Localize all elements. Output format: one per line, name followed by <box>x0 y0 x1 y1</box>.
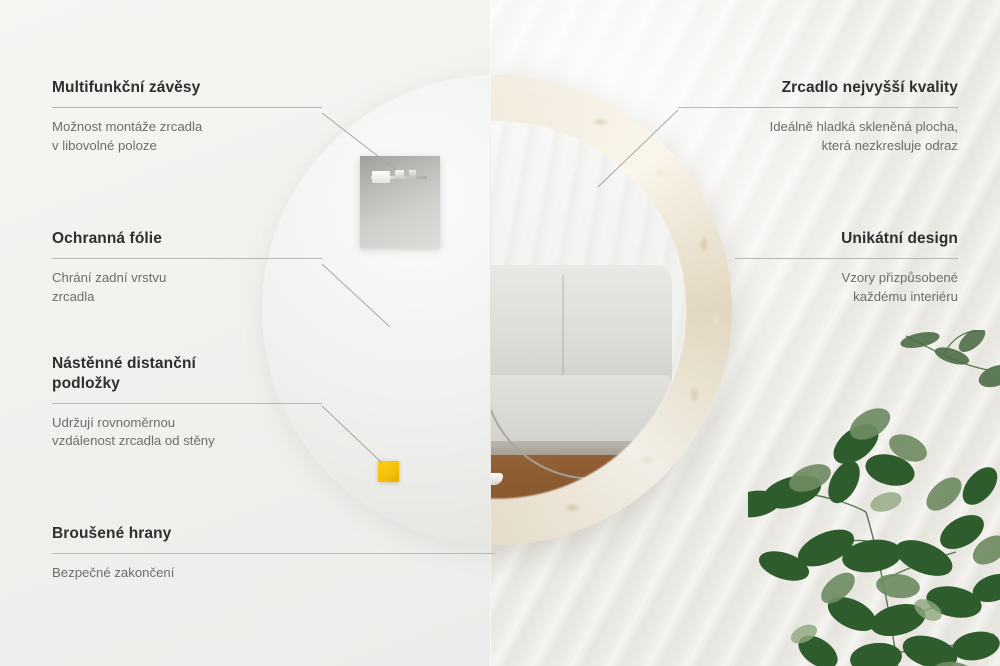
callout-body-line-1: Udržují rovnoměrnou <box>52 414 322 433</box>
callout-title: Broušené hrany <box>52 524 495 544</box>
callout-body-line-1: Bezpečné zakončení <box>52 564 495 583</box>
callout-ochranna-folie[interactable]: Ochranná fólie Chrání zadní vrstvu zrcad… <box>52 229 322 306</box>
callout-rule <box>52 553 495 554</box>
callout-unikatni-design[interactable]: Unikátní design Vzory přizpůsobené každé… <box>735 229 958 306</box>
callout-title: Ochranná fólie <box>52 229 322 249</box>
callout-body-line-1: Možnost montáže zrcadla <box>52 118 322 137</box>
callout-body-line-1: Ideálně hladká skleněná plocha, <box>678 118 958 137</box>
callout-body: Možnost montáže zrcadla v libovolné polo… <box>52 118 322 155</box>
callout-title-line-1: Nástěnné distanční <box>52 354 322 374</box>
callout-nastenne-distancni-podlozky[interactable]: Nástěnné distanční podložky Udržují rovn… <box>52 354 322 451</box>
callout-body-line-2: která nezkresluje odraz <box>678 137 958 156</box>
callout-title: Zrcadlo nejvyšší kvality <box>678 78 958 98</box>
callout-body: Chrání zadní vrstvu zrcadla <box>52 269 322 306</box>
callout-body-line-2: vzdálenost zrcadla od stěny <box>52 432 322 451</box>
callout-body: Udržují rovnoměrnou vzdálenost zrcadla o… <box>52 414 322 451</box>
callout-body-line-2: v libovolné poloze <box>52 137 322 156</box>
callout-rule <box>735 258 958 259</box>
callout-title-line-2: podložky <box>52 374 322 394</box>
callout-body-line-2: zrcadla <box>52 288 322 307</box>
plant-leaves-upper <box>900 330 1000 450</box>
callout-body-line-2: každému interiéru <box>735 288 958 307</box>
callout-title: Nástěnné distanční podložky <box>52 354 322 394</box>
callout-rule <box>52 403 322 404</box>
callout-title: Unikátní design <box>735 229 958 249</box>
product-infographic: Multifunkční závěsy Možnost montáže zrca… <box>0 0 1000 666</box>
callout-rule <box>52 107 322 108</box>
callout-body-line-1: Vzory přizpůsobené <box>735 269 958 288</box>
callout-zrcadlo-nejvyssi-kvality[interactable]: Zrcadlo nejvyšší kvality Ideálně hladká … <box>678 78 958 155</box>
callout-body: Bezpečné zakončení <box>52 564 495 583</box>
callout-rule <box>52 258 322 259</box>
hanger-bracket-icon <box>371 170 427 185</box>
callout-body: Ideálně hladká skleněná plocha, která ne… <box>678 118 958 155</box>
callout-brousene-hrany[interactable]: Broušené hrany Bezpečné zakončení <box>52 524 495 583</box>
callout-body-line-1: Chrání zadní vrstvu <box>52 269 322 288</box>
callout-title: Multifunkční závěsy <box>52 78 322 98</box>
callout-body: Vzory přizpůsobené každému interiéru <box>735 269 958 306</box>
callout-multifunkcni-zavesy[interactable]: Multifunkční závěsy Možnost montáže zrca… <box>52 78 322 155</box>
callout-rule <box>678 107 958 108</box>
wall-spacer-pad <box>378 461 399 482</box>
